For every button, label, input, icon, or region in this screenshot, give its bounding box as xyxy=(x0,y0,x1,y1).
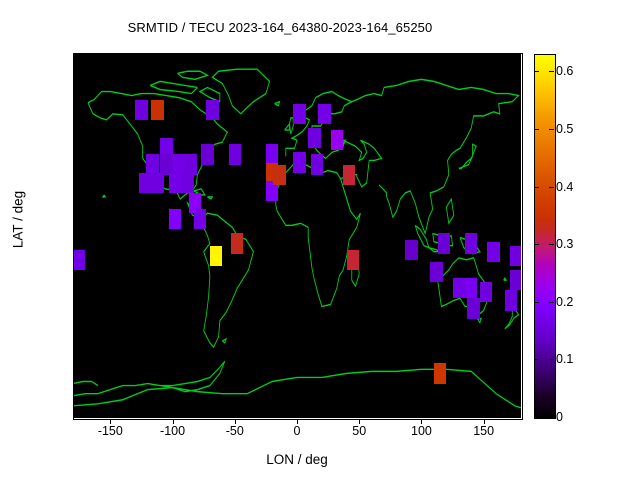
heatmap-cell xyxy=(405,240,417,260)
colorbar-tick-label: 0 xyxy=(556,410,606,424)
heatmap-cell xyxy=(430,262,442,282)
heatmap-cell xyxy=(151,100,163,120)
heatmap-cell xyxy=(273,165,285,185)
colorbar-tick-mark xyxy=(534,359,539,360)
x-axis-tick-label: 150 xyxy=(444,424,524,438)
colorbar-tick-label: 0.5 xyxy=(556,122,606,136)
y-axis-tick-mark xyxy=(73,195,78,196)
y-axis-tick-mark xyxy=(73,73,78,74)
colorbar-tick-label: 0.6 xyxy=(556,64,606,78)
colorbar-tick-mark xyxy=(534,187,539,188)
heatmap-cell xyxy=(201,144,213,164)
heatmap-cell xyxy=(169,209,181,229)
heatmap-cell xyxy=(135,100,147,120)
heatmap-cell xyxy=(347,250,359,270)
heatmap-cell xyxy=(467,298,479,318)
heatmap-cell xyxy=(453,278,465,298)
heatmap-cell xyxy=(185,154,197,174)
y-axis-label: LAT / deg xyxy=(11,150,26,290)
colorbar-tick-mark xyxy=(549,302,554,303)
heatmap-cell xyxy=(505,290,517,310)
colorbar-tick-label: 0.3 xyxy=(556,237,606,251)
colorbar-tick-mark xyxy=(549,244,554,245)
heatmap-cell xyxy=(293,104,305,124)
colorbar-tick-mark xyxy=(549,71,554,72)
heatmap-cell xyxy=(343,165,355,185)
y-axis-tick-mark xyxy=(73,114,78,115)
heatmap-cell xyxy=(139,173,151,193)
y-axis-tick-mark xyxy=(73,317,78,318)
plot-figure: SRMTID / TECU 2023-164_64380-2023-164_65… xyxy=(0,0,640,480)
colorbar-tick-mark xyxy=(534,129,539,130)
map-plot-area xyxy=(73,53,521,418)
x-axis-label: LON / deg xyxy=(73,452,521,467)
heatmap-cell xyxy=(510,270,521,290)
heatmap-cell xyxy=(229,144,241,164)
heatmap-cell xyxy=(151,173,163,193)
colorbar-tick-mark xyxy=(534,302,539,303)
heatmap-cells xyxy=(73,53,521,418)
x-axis-tick-mark xyxy=(297,419,298,424)
x-axis-tick-mark xyxy=(359,419,360,424)
heatmap-cell xyxy=(318,104,330,124)
x-axis-tick-mark xyxy=(110,419,111,424)
heatmap-cell xyxy=(266,144,278,164)
colorbar-tick-label: 0.4 xyxy=(556,180,606,194)
heatmap-cell xyxy=(231,233,243,253)
heatmap-cell xyxy=(146,154,158,174)
colorbar-tick-mark xyxy=(534,71,539,72)
x-axis-tick-mark xyxy=(484,419,485,424)
heatmap-cell xyxy=(311,154,323,174)
heatmap-cell xyxy=(181,173,193,193)
y-axis-tick-mark xyxy=(73,236,78,237)
heatmap-cell xyxy=(480,282,492,302)
colorbar-tick-mark xyxy=(549,129,554,130)
heatmap-cell xyxy=(210,246,222,266)
heatmap-cell xyxy=(293,152,305,172)
heatmap-cell xyxy=(434,363,446,383)
heatmap-cell xyxy=(206,100,218,120)
heatmap-cell xyxy=(194,209,206,229)
heatmap-cell xyxy=(73,250,85,270)
colorbar xyxy=(534,54,556,419)
heatmap-cell xyxy=(465,233,477,253)
x-axis-tick-mark xyxy=(235,419,236,424)
heatmap-cell xyxy=(510,246,521,266)
colorbar-tick-mark xyxy=(549,187,554,188)
heatmap-cell xyxy=(331,130,343,150)
y-axis-tick-mark xyxy=(73,398,78,399)
heatmap-cell xyxy=(160,154,172,174)
x-axis-tick-mark xyxy=(421,419,422,424)
x-axis-tick-mark xyxy=(173,419,174,424)
chart-title: SRMTID / TECU 2023-164_64380-2023-164_65… xyxy=(0,20,560,35)
heatmap-cell xyxy=(169,173,181,193)
colorbar-tick-label: 0.2 xyxy=(556,295,606,309)
heatmap-cell xyxy=(173,154,185,174)
colorbar-tick-mark xyxy=(549,359,554,360)
heatmap-cell xyxy=(438,233,450,253)
colorbar-tick-mark xyxy=(534,244,539,245)
heatmap-cell xyxy=(308,128,320,148)
heatmap-cell xyxy=(487,242,499,262)
colorbar-tick-label: 0.1 xyxy=(556,352,606,366)
heatmap-cell xyxy=(465,278,477,298)
y-axis-tick-mark xyxy=(73,276,78,277)
y-axis-tick-mark xyxy=(73,357,78,358)
y-axis-tick-mark xyxy=(73,154,78,155)
